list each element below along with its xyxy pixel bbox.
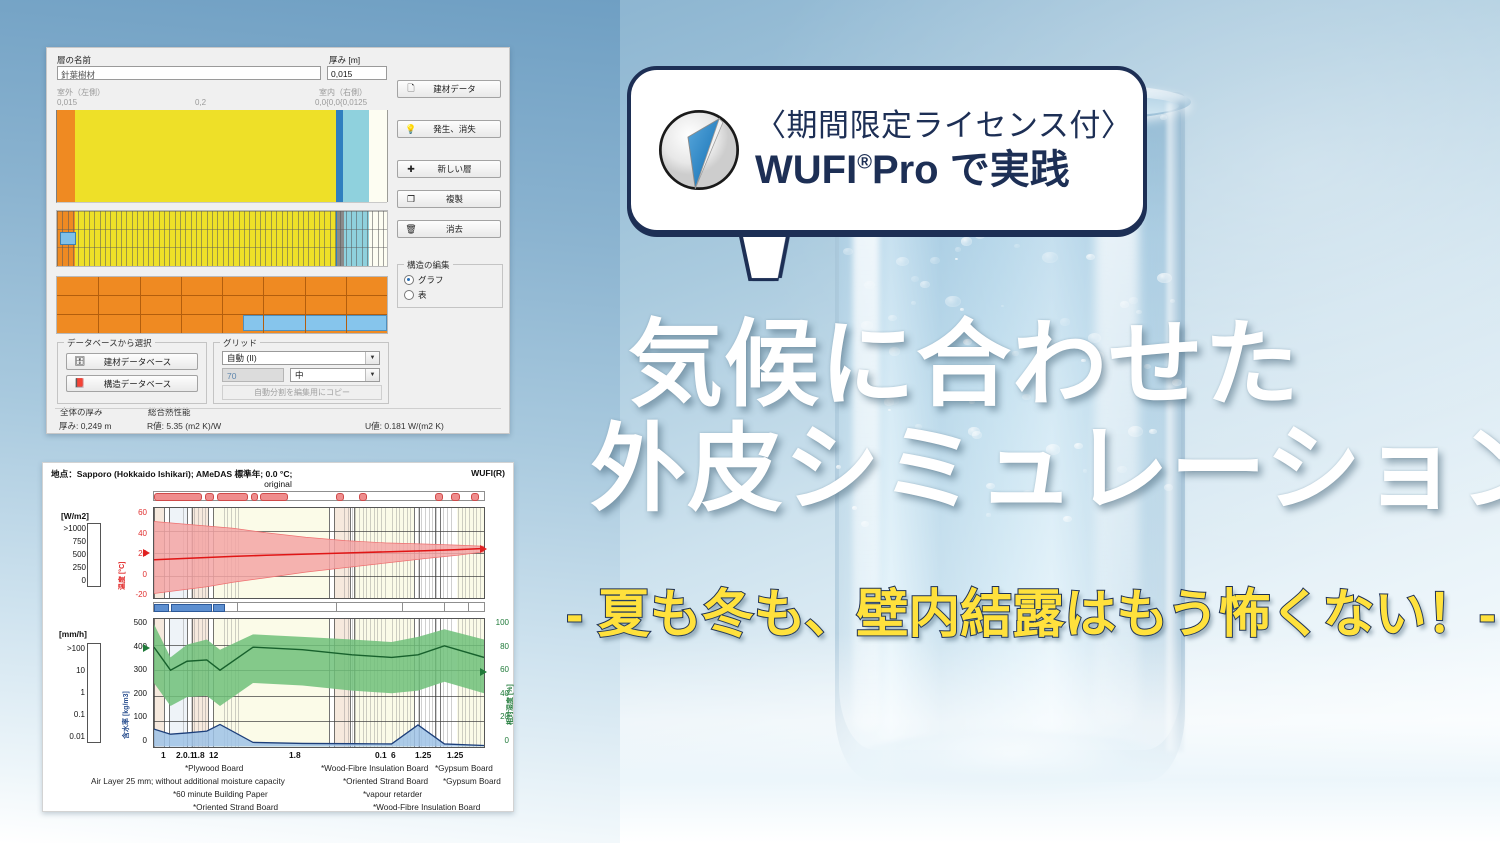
material-label: *Gypsum Board <box>435 764 493 773</box>
grid-column <box>276 211 277 266</box>
grid-column <box>378 211 379 266</box>
humidity-marker-arrow-left <box>143 644 150 652</box>
marker-tick <box>402 603 403 611</box>
plot-series-layer <box>154 619 484 747</box>
water-bubble <box>911 301 916 304</box>
monitor-row <box>57 295 387 296</box>
new-layer-icon: ✚ <box>403 164 419 175</box>
water-bubble <box>1001 305 1004 307</box>
assembly-button-4[interactable]: 🗑消去 <box>397 220 501 238</box>
grid-column <box>356 211 357 266</box>
axis-tick-label: 1 <box>47 688 85 697</box>
assembly-button-2[interactable]: ✚新しい層 <box>397 160 501 178</box>
material-label: *Wood-Fibre Insulation Board <box>373 803 480 812</box>
assembly-button-label-4: 消去 <box>419 223 490 235</box>
database-group-title: データベースから選択 <box>64 337 155 349</box>
marker-segment[interactable] <box>217 493 249 501</box>
grid-column <box>191 211 192 266</box>
material-label: *Wood-Fibre Insulation Board <box>321 764 428 773</box>
assembly-layer[interactable] <box>343 110 370 202</box>
assembly-button-label-3: 複製 <box>419 193 490 205</box>
database-icon: 🗄 <box>72 356 88 367</box>
axis-tick-label: 40 <box>123 529 147 538</box>
grid-column <box>340 211 341 266</box>
bubble-product-name: WUFI <box>755 148 857 192</box>
exterior-side-label: 室外（左側） <box>57 87 105 98</box>
grid-column <box>383 211 384 266</box>
chart-subtitle: original <box>43 479 513 489</box>
grid-mode-select[interactable]: 自動 (II) ▼ <box>222 351 380 365</box>
axis-tick-label: 0 <box>49 576 86 585</box>
grid-column <box>351 211 352 266</box>
grid-column <box>116 211 117 266</box>
material-label: Air Layer 25 mm; without additional mois… <box>91 777 285 786</box>
assembly-layer[interactable] <box>75 110 337 202</box>
layer-thickness-label: 1.8 <box>193 750 205 760</box>
assembly-button-label-2: 新しい層 <box>419 163 490 175</box>
assembly-button-label-0: 建材データ <box>419 83 490 95</box>
left-scale-unit-bottom: [mm/h] <box>59 629 87 639</box>
grid-column <box>132 211 133 266</box>
marker-segment-blue[interactable] <box>171 604 213 612</box>
marker-segment[interactable] <box>359 493 368 501</box>
axis-tick-label: 80 <box>487 642 509 651</box>
radio-graph[interactable]: グラフ <box>404 274 444 286</box>
water-bubble <box>920 281 929 288</box>
wufi-logo-icon <box>653 104 745 196</box>
grid-column <box>346 211 347 266</box>
humidity-band <box>154 624 484 706</box>
material-label: *Oriented Strand Board <box>193 803 278 812</box>
water-bubble <box>955 247 962 252</box>
radio-graph-label: グラフ <box>418 274 444 286</box>
left-scale-unit-top: [W/m2] <box>61 511 89 521</box>
thickness-label: 厚み [m] <box>329 54 360 66</box>
water-bubble <box>945 296 960 307</box>
grid-column <box>137 211 138 266</box>
layer-thickness-label: 1.25 <box>415 750 431 760</box>
grid-row <box>57 211 387 212</box>
grid-column <box>159 211 160 266</box>
trash-icon: 🗑 <box>403 224 419 235</box>
left-scale-box-top <box>87 523 101 587</box>
grid-column <box>217 211 218 266</box>
u-value: U値: 0.181 W/(m2 K) <box>365 420 444 432</box>
axis-tick-label: 500 <box>123 618 147 627</box>
grid-column <box>84 211 85 266</box>
grid-column <box>298 211 299 266</box>
grid-row <box>57 229 387 230</box>
speech-bubble: 〈期間限定ライセンス付〉 WUFI®Pro で実践 <box>627 66 1147 234</box>
bubble-line-2: WUFI®Pro で実践 <box>755 150 1132 190</box>
chart-brand-label: WUFI(R) <box>471 468 505 478</box>
grid-column <box>271 211 272 266</box>
water-bubble <box>1120 301 1129 307</box>
grid-count-field: 70 <box>222 368 284 382</box>
axis-tick-label: 10 <box>47 666 85 675</box>
grid-column <box>367 211 368 266</box>
water-bubble <box>911 276 919 282</box>
water-bubble <box>864 281 875 289</box>
marker-segment[interactable] <box>205 493 214 501</box>
axis-tick-label: -20 <box>123 590 147 599</box>
headline-line-2: 外皮シミュレーション <box>590 420 1488 521</box>
assembly-grid-view[interactable] <box>56 210 388 267</box>
material-label: *vapour retarder <box>363 790 422 799</box>
water-bubble <box>1157 273 1172 283</box>
water-bubble <box>896 257 910 267</box>
axis-tick-label: 300 <box>123 665 147 674</box>
thickness-input[interactable]: 0,015 <box>327 66 387 80</box>
middle-marker-strip[interactable] <box>153 602 485 612</box>
dim-left: 0,015 <box>57 98 77 107</box>
grid-column <box>143 211 144 266</box>
assembly-button-3[interactable]: ❐複製 <box>397 190 501 208</box>
grid-column <box>207 211 208 266</box>
grid-handle[interactable] <box>60 232 76 245</box>
wufi-assembly-window[interactable]: 層の名前 針葉樹材 厚み [m] 0,015 室外（左側） 0,015 0,2 … <box>46 47 510 434</box>
grid-column <box>330 211 331 266</box>
marker-segment[interactable] <box>260 493 288 501</box>
grid-column <box>153 211 154 266</box>
structure-edit-group: 構造の編集 グラフ 表 <box>397 264 503 308</box>
axis-tick-label: 250 <box>49 563 86 572</box>
grid-column <box>126 211 127 266</box>
grid-column <box>335 211 336 266</box>
grid-column <box>148 211 149 266</box>
moisture-axis-title: 含水率 [kg/m3] <box>121 691 131 739</box>
material-label: *Plywood Board <box>185 764 243 773</box>
assembly-button-0[interactable]: 🗋建材データ <box>397 80 501 98</box>
material-label: *Oriented Strand Board <box>343 777 428 786</box>
grid-column <box>292 211 293 266</box>
marker-tick <box>444 603 445 611</box>
layer-thickness-label: 1 <box>161 750 166 760</box>
monitor-row <box>57 314 387 315</box>
material-label: *Gypsum Board <box>443 777 501 786</box>
grid-group-title: グリッド <box>220 337 260 349</box>
grid-column <box>308 211 309 266</box>
assembly-icon: 📕 <box>72 378 88 389</box>
axis-tick-label: 0 <box>487 736 509 745</box>
dim-right: 0,0{0,0{0,0125 <box>315 98 367 107</box>
grid-column <box>244 211 245 266</box>
monitor-column <box>346 277 347 333</box>
water-bubble <box>930 257 940 264</box>
marker-segment[interactable] <box>451 493 460 501</box>
assembly-layer[interactable] <box>369 110 388 202</box>
marker-segment-blue[interactable] <box>213 604 225 612</box>
interior-side-label: 室内（右側） <box>319 87 367 98</box>
registered-mark-icon: ® <box>857 152 872 174</box>
grid-column <box>282 211 283 266</box>
grid-column <box>196 211 197 266</box>
monitor-selection[interactable] <box>243 315 387 331</box>
grid-mode-value: 自動 (II) <box>227 352 257 364</box>
material-database-button[interactable]: 🗄 建材データベース <box>66 353 198 370</box>
monitor-column <box>98 277 99 333</box>
grid-column <box>57 211 58 266</box>
axis-tick-label: 0.1 <box>47 710 85 719</box>
monitor-column <box>222 277 223 333</box>
layer-thickness-label: 12 <box>209 750 218 760</box>
document-icon: 🗋 <box>403 81 419 97</box>
marker-segment[interactable] <box>435 493 444 501</box>
background-floor-fade <box>620 633 1500 843</box>
water-bubble <box>1014 244 1020 248</box>
axis-tick-label: >100 <box>47 644 85 653</box>
copy-autogrid-button[interactable]: 自動分割を編集用にコピー <box>222 385 382 400</box>
assembly-layer-graph[interactable] <box>56 110 387 203</box>
totals-divider <box>55 408 501 409</box>
marker-tick <box>336 603 337 611</box>
grid-column <box>223 211 224 266</box>
radio-table-label: 表 <box>418 289 427 301</box>
temperature-marker-arrow-left <box>143 549 150 557</box>
marker-segment[interactable] <box>154 493 202 501</box>
grid-column <box>89 211 90 266</box>
axis-tick-label: 500 <box>49 550 86 559</box>
humidity-marker-arrow-right <box>480 668 487 676</box>
assembly-button-1[interactable]: 💡発生、消失 <box>397 120 501 138</box>
grid-column <box>255 211 256 266</box>
axis-tick-label: >1000 <box>49 524 86 533</box>
subtitle-text: - 夏も冬も、壁内結露はもう怖くない！- <box>566 572 1486 647</box>
marker-segment[interactable] <box>336 493 345 501</box>
grid-column <box>185 211 186 266</box>
grid-column <box>228 211 229 266</box>
layer-name-input[interactable]: 針葉樹材 <box>57 66 321 80</box>
grid-column <box>121 211 122 266</box>
grid-column <box>169 211 170 266</box>
axis-tick-label: 750 <box>49 537 86 546</box>
grid-column <box>319 211 320 266</box>
axis-tick-label: 60 <box>123 508 147 517</box>
grid-column <box>212 211 213 266</box>
grid-fineness-select[interactable]: 中 ▼ <box>290 368 380 382</box>
material-database-label: 建材データベース <box>88 356 187 368</box>
grid-column <box>110 211 111 266</box>
humidity-axis-title: 相対湿度 [%] <box>505 684 515 725</box>
grid-column <box>100 211 101 266</box>
axis-tick-label: 0.01 <box>47 732 85 741</box>
water-bubble <box>843 248 853 255</box>
monitor-column <box>140 277 141 333</box>
radio-table[interactable]: 表 <box>404 289 427 301</box>
marker-segment-blue[interactable] <box>154 604 169 612</box>
temperature-marker-arrow-right <box>480 545 487 553</box>
marker-tick <box>237 603 238 611</box>
bubble-product-suffix: Pro で実践 <box>872 148 1070 192</box>
water-bubble <box>1170 299 1175 303</box>
grid-column <box>164 211 165 266</box>
layer-thickness-label: 1.8 <box>289 750 301 760</box>
top-marker-strip[interactable] <box>153 491 485 501</box>
r-value: R値: 5.35 (m2 K)/W <box>147 420 221 432</box>
dim-mid: 0,2 <box>195 98 206 107</box>
monitor-column <box>305 277 306 333</box>
axis-tick-label: 60 <box>487 665 509 674</box>
grid-column <box>303 211 304 266</box>
water-bubble <box>955 258 959 261</box>
water-bubble <box>1086 254 1095 260</box>
water-bubble <box>960 308 964 311</box>
assembly-database-button[interactable]: 📕 構造データベース <box>66 375 198 392</box>
grid-column <box>372 211 373 266</box>
left-scale-box-bottom <box>87 643 101 743</box>
layer-thickness-label: 6 <box>391 750 396 760</box>
layer-thickness-label: 1.25 <box>447 750 463 760</box>
chevron-down-icon: ▼ <box>365 352 379 364</box>
bubble-line-1: 〈期間限定ライセンス付〉 <box>755 110 1132 141</box>
axis-tick-label: 100 <box>487 618 509 627</box>
radio-table-dot <box>404 290 414 300</box>
grid-column <box>94 211 95 266</box>
speech-bubble-text: 〈期間限定ライセンス付〉 WUFI®Pro で実践 <box>755 110 1132 190</box>
plot-series-layer <box>154 508 484 598</box>
grid-column <box>287 211 288 266</box>
radio-graph-dot <box>404 275 414 285</box>
database-group: データベースから選択 🗄 建材データベース 📕 構造データベース <box>57 342 207 404</box>
grid-column <box>239 211 240 266</box>
monitor-column <box>263 277 264 333</box>
structure-edit-title: 構造の編集 <box>404 259 453 271</box>
headline-line-1: 気候に合わせた <box>628 316 1488 416</box>
material-label: *60 minute Building Paper <box>173 790 268 799</box>
grid-column <box>201 211 202 266</box>
layer-name-label: 層の名前 <box>57 54 91 66</box>
temperature-axis-title: 温度 [°C] <box>117 562 127 590</box>
marker-segment[interactable] <box>471 493 480 501</box>
marker-segment[interactable] <box>251 493 258 501</box>
water-bubble <box>1160 115 1166 120</box>
grid-column <box>233 211 234 266</box>
grid-column <box>260 211 261 266</box>
grid-column <box>105 211 106 266</box>
layer-thickness-label: 0.1 <box>375 750 387 760</box>
grid-row <box>57 247 387 248</box>
temperature-plot[interactable] <box>153 507 485 599</box>
grid-column <box>265 211 266 266</box>
lightbulb-icon: 💡 <box>403 124 419 135</box>
grid-column <box>175 211 176 266</box>
headline-block: 気候に合わせた 外皮シミュレーション <box>628 316 1488 521</box>
layer-thickness-label: 2.0.1 <box>176 750 195 760</box>
water-bubble <box>1042 252 1058 263</box>
copy-icon: ❐ <box>403 194 419 205</box>
assembly-database-label: 構造データベース <box>88 378 187 390</box>
grid-column <box>78 211 79 266</box>
water-bubble <box>961 237 972 245</box>
assembly-monitor-positions[interactable] <box>56 276 388 334</box>
chevron-down-icon-2: ▼ <box>365 369 379 381</box>
grid-column <box>180 211 181 266</box>
poster-canvas: 層の名前 針葉樹材 厚み [m] 0,015 室外（左側） 0,015 0,2 … <box>0 0 1500 843</box>
grid-column <box>249 211 250 266</box>
grid-column <box>362 211 363 266</box>
monitor-column <box>181 277 182 333</box>
grid-column <box>324 211 325 266</box>
moisture-plot[interactable] <box>153 618 485 748</box>
water-bubble <box>1129 297 1138 303</box>
wufi-result-chart-window[interactable]: 地点：Sapporo (Hokkaido Ishikari); AMeDAS 標… <box>42 462 514 812</box>
marker-tick <box>468 603 469 611</box>
assembly-button-label-1: 発生、消失 <box>419 123 490 135</box>
total-thickness-value: 厚み: 0,249 m <box>59 420 111 432</box>
assembly-layer[interactable] <box>57 110 76 202</box>
grid-fineness-value: 中 <box>295 369 304 381</box>
grid-group: グリッド 自動 (II) ▼ 70 中 ▼ 自動分割を編集用にコピー <box>213 342 389 404</box>
grid-column <box>314 211 315 266</box>
